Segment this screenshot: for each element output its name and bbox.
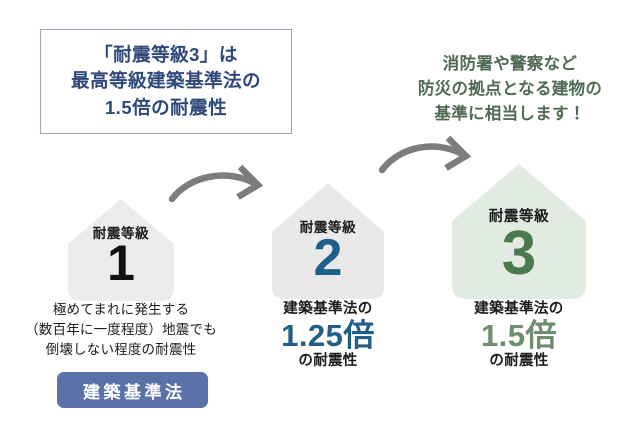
- callout-line-3: 1.5倍の耐震性: [105, 95, 227, 121]
- note-line-2: 防災の拠点となる建物の: [396, 77, 624, 102]
- house-grade-1: 耐震等級 1: [62, 196, 180, 304]
- callout-line-1: 「耐震等級3」は: [94, 42, 238, 68]
- caption-1-line-2: （数百年に一度程度）地震でも: [14, 320, 228, 340]
- caption-1-line-3: 倒壊しない程度の耐震性: [14, 340, 228, 360]
- callout-box-grade3-summary: 「耐震等級3」は 最高等級建築基準法の 1.5倍の耐震性: [40, 29, 292, 134]
- caption-3-bottom: の耐震性: [440, 352, 598, 371]
- house-grade-3: 耐震等級 3: [446, 161, 592, 302]
- house-2-grade: 2: [266, 232, 390, 284]
- caption-grade-2: 建築基準法の 1.25倍 の耐震性: [258, 300, 398, 371]
- badge-building-standards-act: 建築基準法: [57, 372, 208, 408]
- callout-line-2: 最高等級建築基準法の: [71, 68, 261, 94]
- house-3-grade: 3: [446, 223, 592, 285]
- note-disaster-base-standard: 消防署や警察など 防災の拠点となる建物の 基準に相当します！: [396, 52, 624, 127]
- note-line-3: 基準に相当します！: [396, 102, 624, 127]
- caption-2-multiplier: 1.25倍: [258, 320, 398, 353]
- caption-grade-3: 建築基準法の 1.5倍 の耐震性: [440, 300, 598, 371]
- caption-1-line-1: 極めてまれに発生する: [14, 300, 228, 320]
- house-1-grade: 1: [62, 238, 180, 288]
- caption-2-top: 建築基準法の: [258, 300, 398, 320]
- note-line-1: 消防署や警察など: [396, 52, 624, 77]
- caption-2-bottom: の耐震性: [258, 352, 398, 371]
- caption-grade-1: 極めてまれに発生する （数百年に一度程度）地震でも 倒壊しない程度の耐震性: [14, 300, 228, 360]
- arrow-grade1-to-grade2-icon: [168, 163, 278, 223]
- caption-3-multiplier: 1.5倍: [440, 320, 598, 353]
- caption-3-top: 建築基準法の: [440, 300, 598, 320]
- house-grade-2: 耐震等級 2: [266, 180, 390, 302]
- infographic-canvas: 「耐震等級3」は 最高等級建築基準法の 1.5倍の耐震性 消防署や警察など 防災…: [0, 0, 640, 446]
